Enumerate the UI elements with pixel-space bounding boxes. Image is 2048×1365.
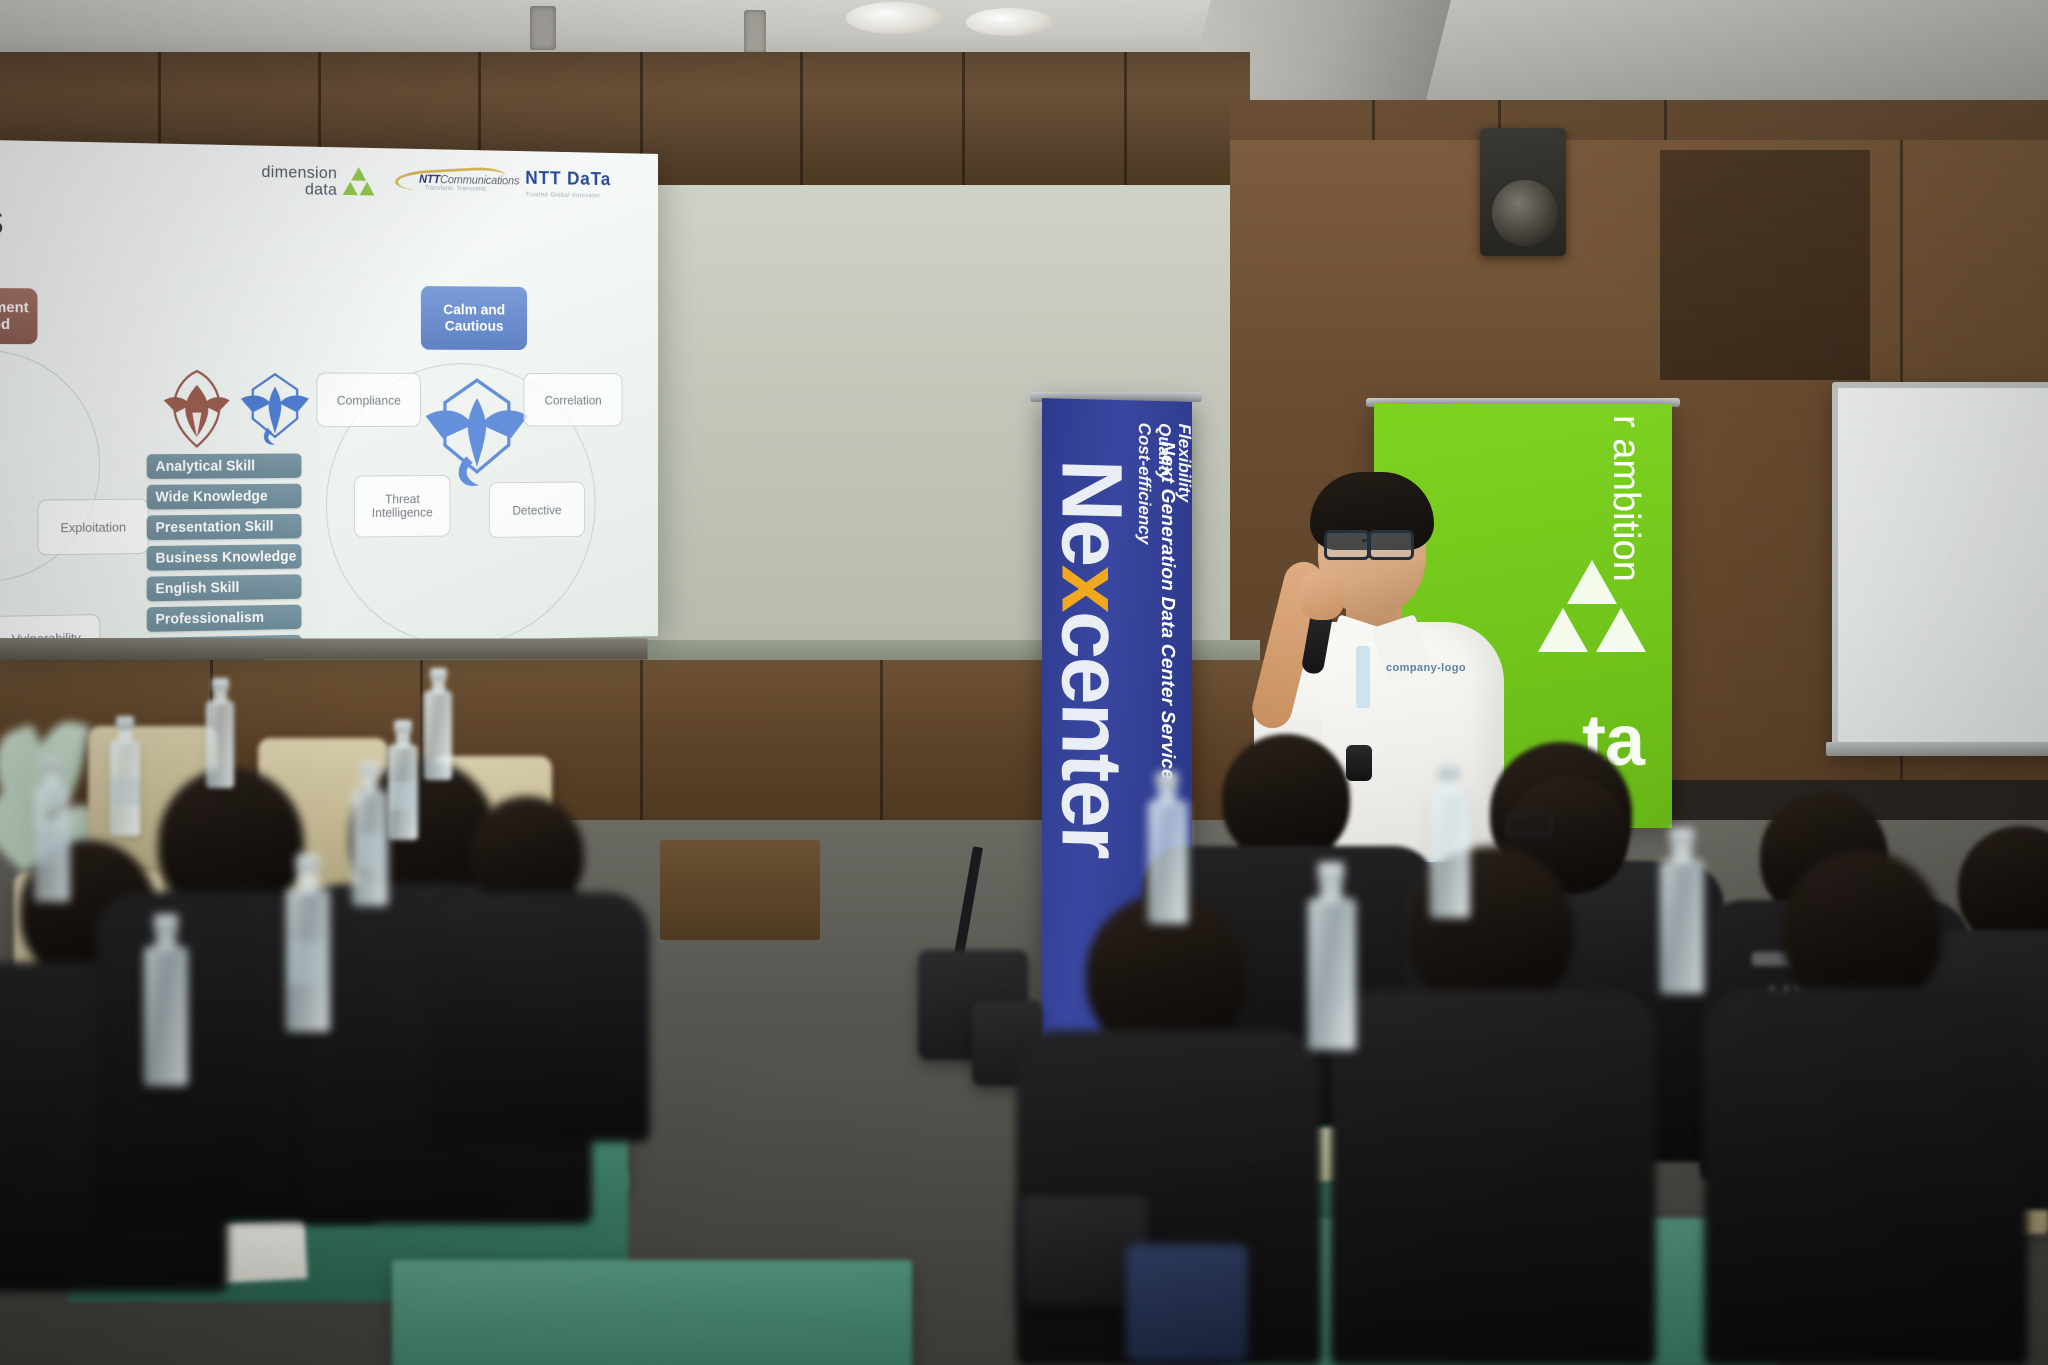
- skill-chip: Analytical Skill: [147, 453, 302, 478]
- whiteboard-marker-tray: [1826, 742, 2048, 756]
- team-mystic-emblem: [237, 367, 313, 451]
- ntt-communications-logo: NTTCommunications Transform. Transcend.: [395, 166, 505, 197]
- green-banner-tagline: r ambition: [1604, 415, 1647, 582]
- slide-logo-row: dimension data NTTCommunications Transfo…: [262, 163, 641, 203]
- skill-chip: Professionalism: [147, 605, 302, 632]
- nttc-mark: NTT: [419, 172, 440, 186]
- ceiling-vent: [530, 6, 556, 50]
- nexcenter-post: center: [1044, 610, 1140, 858]
- ntt-data-mark: NTT DaTa: [525, 168, 640, 191]
- left-node-exploitation: Exploitation: [37, 499, 148, 556]
- table: [392, 1260, 912, 1365]
- recessed-light: [846, 2, 942, 34]
- skill-chip: Presentation Skill: [147, 514, 302, 540]
- dimension-data-line2: data: [262, 180, 338, 198]
- ceiling-vent: [744, 10, 766, 54]
- projection-screen: dimension data NTTCommunications Transfo…: [0, 140, 658, 650]
- feature-cost-efficiency: Cost-efficiency: [1135, 422, 1154, 544]
- side-cabinet: [660, 840, 820, 940]
- presenter-hand: [1300, 572, 1344, 620]
- right-node-threat-intelligence: Threat Intelligence: [354, 475, 450, 538]
- presenter-glasses-bridge: [1362, 539, 1370, 542]
- backpack: [1126, 1244, 1248, 1362]
- audience-glasses: [1506, 812, 1552, 836]
- right-node-detective: Detective: [489, 482, 585, 538]
- left-group-header: Engagement Minded: [0, 287, 37, 344]
- nexcenter-x: x: [1044, 564, 1140, 612]
- skill-chip: Business Knowledge: [147, 544, 302, 571]
- skills-list: Analytical Skill Wide Knowledge Presenta…: [147, 453, 302, 650]
- presenter-shirt-placket: [1356, 646, 1370, 708]
- speaker-cone-icon: [1492, 180, 1558, 246]
- nexcenter-wordmark: Nexcenter: [1050, 458, 1132, 858]
- triangle-logo-icon: [343, 167, 375, 197]
- wall-panel: [1660, 150, 1870, 380]
- right-node-compliance: Compliance: [317, 373, 421, 428]
- recessed-light: [966, 8, 1052, 36]
- team-valor-emblem: [158, 366, 235, 451]
- skill-chip: Wide Knowledge: [147, 484, 302, 510]
- right-node-correlation: Correlation: [523, 373, 622, 427]
- right-group-header: Calm and Cautious: [421, 286, 527, 350]
- skill-chip: English Skill: [147, 574, 302, 601]
- conference-room-photo: dimension data NTTCommunications Transfo…: [0, 0, 2048, 1365]
- presenter-glasses-left-lens: [1324, 530, 1370, 560]
- nexcenter-features: Flexibility Quality Cost-efficiency: [1134, 422, 1192, 545]
- dimension-data-line1: dimension: [262, 163, 338, 181]
- presenter-glasses-right-lens: [1368, 530, 1414, 560]
- dimension-data-logo: dimension data: [262, 163, 375, 198]
- nttc-sub-mark: Communications: [440, 173, 519, 188]
- ntt-data-tagline: Trusted Global Innovator: [525, 191, 640, 200]
- feature-quality: Quality: [1155, 423, 1174, 481]
- nttc-tagline: Transform. Transcend.: [425, 186, 488, 193]
- presenter-clicker: [1346, 745, 1372, 781]
- presenter-shirt-logo: company-logo: [1386, 662, 1466, 674]
- whiteboard: [1832, 382, 2048, 754]
- screen-bottom-rail: [0, 638, 647, 660]
- ntt-data-logo: NTT DaTa Trusted Global Innovator: [525, 168, 640, 199]
- slide-title: Traits: [0, 193, 3, 245]
- nexcenter-pre: Ne: [1044, 458, 1140, 566]
- feature-flexibility: Flexibility: [1175, 423, 1192, 502]
- team-mystic-emblem-large: [423, 369, 531, 492]
- presentation-slide: dimension data NTTCommunications Transfo…: [0, 140, 658, 650]
